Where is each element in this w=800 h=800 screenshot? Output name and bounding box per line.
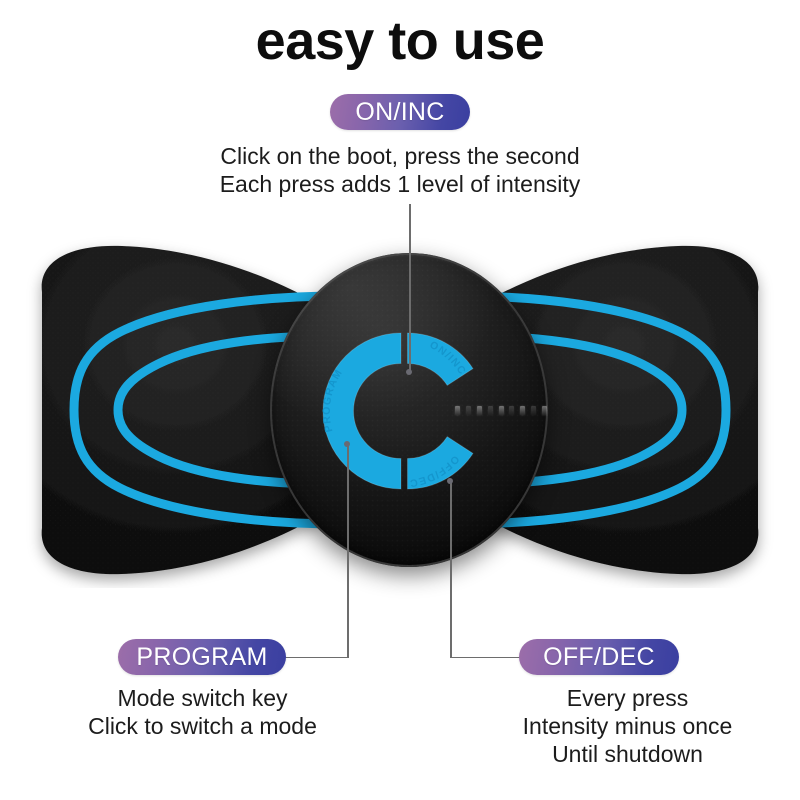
callout-line: Click on the boot, press the second: [0, 142, 800, 170]
leader-line-on-inc: [409, 204, 411, 374]
ring-segment-on-inc[interactable]: ON/INC: [408, 333, 474, 385]
leader-line-off-dec-horizontal: [450, 657, 520, 659]
callout-line: Each press adds 1 level of intensity: [0, 170, 800, 198]
callout-line: Intensity minus once: [455, 712, 800, 740]
led-segment: [542, 406, 547, 415]
leader-line-off-dec-vertical: [450, 482, 452, 658]
callout-line: Click to switch a mode: [20, 712, 385, 740]
callout-line: Mode switch key: [20, 684, 385, 712]
leader-dot-off-dec: [447, 478, 453, 484]
callout-text-off-dec: Every press Intensity minus once Until s…: [455, 684, 800, 768]
callout-line: Every press: [455, 684, 800, 712]
callout-text-on-inc: Click on the boot, press the second Each…: [0, 142, 800, 198]
control-ring: ON/INC PROGRAM OFF/DEC: [314, 320, 496, 502]
led-segment: [520, 406, 525, 415]
led-segment: [509, 406, 514, 415]
ring-segment-program[interactable]: PROGRAM: [321, 333, 401, 489]
ring-segment-off-dec[interactable]: OFF/DEC: [408, 437, 474, 490]
leader-dot-program: [344, 441, 350, 447]
infographic-canvas: easy to use: [0, 0, 800, 800]
page-title: easy to use: [0, 8, 800, 74]
leader-line-program-vertical: [347, 445, 349, 658]
led-segment: [499, 406, 504, 415]
led-segment: [531, 406, 536, 415]
callout-text-program: Mode switch key Click to switch a mode: [20, 684, 385, 740]
callout-pill-on-inc[interactable]: ON/INC: [330, 94, 470, 130]
callout-pill-program[interactable]: PROGRAM: [118, 639, 286, 675]
leader-dot-on-inc: [406, 369, 412, 375]
callout-line: Until shutdown: [455, 740, 800, 768]
callout-pill-off-dec[interactable]: OFF/DEC: [519, 639, 679, 675]
leader-line-program-horizontal: [285, 657, 348, 659]
